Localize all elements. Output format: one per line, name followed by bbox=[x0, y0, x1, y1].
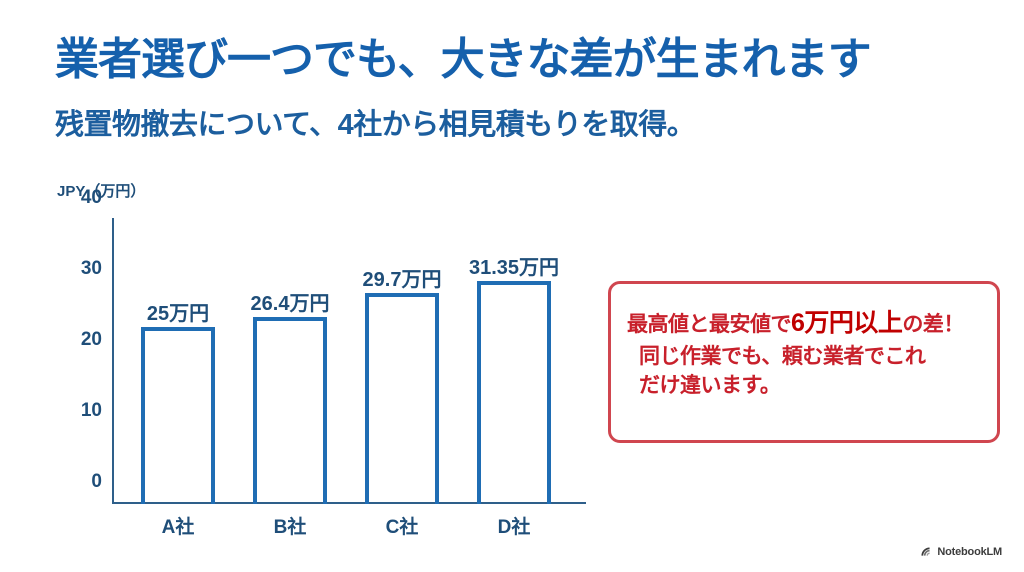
callout-line-2: 同じ作業でも、頼む業者でこれ bbox=[627, 342, 983, 372]
watermark: NotebookLM bbox=[919, 545, 1002, 558]
callout-line-1: 最高値と最安値で6万円以上の差！ bbox=[627, 306, 983, 342]
y-axis-line bbox=[112, 218, 114, 502]
callout-box: 最高値と最安値で6万円以上の差！ 同じ作業でも、頼む業者でこれ だけ違います。 bbox=[608, 281, 1000, 443]
bar-value-label-2: 29.7万円 bbox=[363, 263, 442, 292]
y-tick-label-2: 20 bbox=[81, 329, 102, 351]
bar-chart: JPY（万円） 010203040 25万円A社26.4万円B社29.7万円C社… bbox=[0, 0, 620, 572]
y-tick-label-4: 40 bbox=[81, 187, 102, 209]
watermark-label: NotebookLM bbox=[937, 546, 1002, 558]
notebooklm-icon bbox=[919, 545, 932, 558]
bar-value-label-3: 31.35万円 bbox=[469, 251, 559, 280]
bar-C社[interactable]: 29.7万円C社 bbox=[365, 293, 439, 504]
callout-line-1-prefix: 最高値と最安値で bbox=[627, 313, 791, 336]
x-category-label-1: B社 bbox=[274, 512, 307, 539]
x-category-label-2: C社 bbox=[386, 512, 419, 539]
callout-line-1-suffix: の差！ bbox=[902, 313, 964, 336]
y-tick-label-3: 30 bbox=[81, 258, 102, 280]
bar-A社[interactable]: 25万円A社 bbox=[141, 327, 215, 505]
callout-highlight: 6万円以上 bbox=[791, 309, 902, 337]
bar-value-label-1: 26.4万円 bbox=[251, 287, 330, 316]
bar-B社[interactable]: 26.4万円B社 bbox=[253, 317, 327, 504]
y-tick-label-1: 10 bbox=[81, 400, 102, 422]
x-category-label-0: A社 bbox=[162, 512, 195, 539]
y-tick-label-0: 0 bbox=[91, 471, 102, 493]
slide-canvas: 業者選び一つでも、大きな差が生まれます 残置物撤去について、4社から相見積もりを… bbox=[0, 0, 1024, 572]
callout-line-3: だけ違います。 bbox=[627, 371, 983, 401]
chart-plot-area: 010203040 25万円A社26.4万円B社29.7万円C社31.35万円D… bbox=[112, 218, 586, 504]
bar-D社[interactable]: 31.35万円D社 bbox=[477, 281, 551, 504]
bar-value-label-0: 25万円 bbox=[147, 297, 209, 326]
x-category-label-3: D社 bbox=[498, 512, 531, 539]
